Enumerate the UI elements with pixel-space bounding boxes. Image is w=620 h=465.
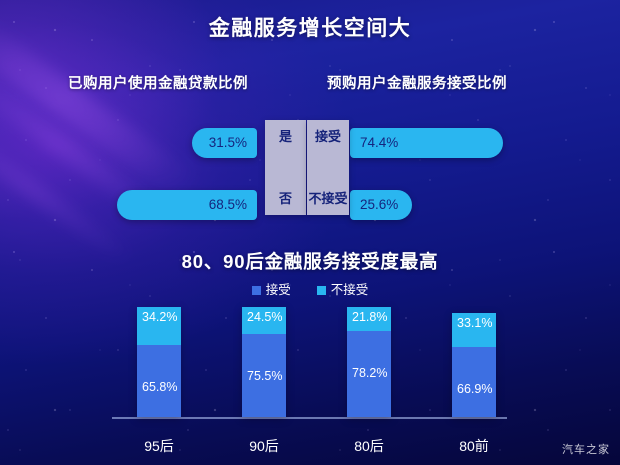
bar-right-reject: 25.6% — [350, 190, 412, 220]
legend-label: 接受 — [266, 284, 291, 297]
legend-label: 不接受 — [331, 284, 369, 297]
segment-value: 21.8% — [352, 311, 387, 325]
segment-value: 65.8% — [142, 381, 177, 395]
bar-value: 31.5% — [209, 136, 247, 150]
legend-swatch-icon — [252, 286, 261, 295]
segment-value: 75.5% — [247, 370, 282, 384]
segment-accept: 75.5% — [242, 334, 286, 417]
segment-accept: 65.8% — [137, 345, 181, 417]
x-axis-label: 90后 — [219, 439, 309, 453]
category-label-reject: 不接受 — [307, 192, 349, 205]
subtitle-row: 已购用户使用金融贷款比例 预购用户金融服务接受比例 — [0, 72, 620, 92]
main-title: 金融服务增长空间大 — [0, 12, 620, 42]
x-axis-label: 80前 — [429, 439, 519, 453]
segment-value: 24.5% — [247, 311, 282, 325]
category-label-no: 否 — [265, 192, 306, 205]
stacked-column: 24.5%75.5% — [242, 307, 286, 417]
stacked-column: 21.8%78.2% — [347, 307, 391, 417]
bar-right-accept: 74.4% — [350, 128, 503, 158]
x-axis-line — [112, 417, 507, 419]
x-axis-label: 95后 — [114, 439, 204, 453]
segment-reject: 24.5% — [242, 307, 286, 334]
segment-reject: 33.1% — [452, 313, 496, 347]
segment-reject: 34.2% — [137, 307, 181, 345]
left-chart-subtitle: 已购用户使用金融贷款比例 — [68, 72, 248, 93]
segment-value: 34.2% — [142, 311, 177, 325]
category-column-right: 接受 不接受 — [307, 120, 349, 215]
segment-reject: 21.8% — [347, 307, 391, 331]
watermark: 汽车之家 — [562, 441, 610, 457]
segment-accept: 66.9% — [452, 347, 496, 417]
bar-value: 68.5% — [209, 198, 247, 212]
stacked-column: 34.2%65.8% — [137, 307, 181, 417]
infographic-slide: 金融服务增长空间大 已购用户使用金融贷款比例 预购用户金融服务接受比例 31.5… — [0, 0, 620, 465]
legend-item-reject[interactable]: 不接受 — [317, 284, 369, 297]
tornado-bar-chart: 31.5% 74.4% 68.5% 25.6% 是 否 接受 不接受 — [0, 120, 620, 228]
category-label-accept: 接受 — [307, 130, 349, 143]
right-chart-subtitle: 预购用户金融服务接受比例 — [327, 72, 507, 93]
stacked-column-chart: 34.2%65.8%95后24.5%75.5%90后21.8%78.2%80后3… — [0, 300, 620, 465]
segment-value: 66.9% — [457, 383, 492, 397]
chart-legend: 接受不接受 — [0, 284, 620, 297]
segment-value: 78.2% — [352, 367, 387, 381]
legend-item-accept[interactable]: 接受 — [252, 284, 291, 297]
bar-left-no: 68.5% — [117, 190, 257, 220]
segment-accept: 78.2% — [347, 331, 391, 417]
bar-left-yes: 31.5% — [192, 128, 257, 158]
legend-swatch-icon — [317, 286, 326, 295]
segment-value: 33.1% — [457, 317, 492, 331]
category-label-yes: 是 — [265, 130, 306, 143]
x-axis-label: 80后 — [324, 439, 414, 453]
stacked-column: 33.1%66.9% — [452, 313, 496, 417]
second-section-title: 80、90后金融服务接受度最高 — [0, 248, 620, 274]
bar-value: 74.4% — [360, 136, 398, 150]
category-column-left: 是 否 — [265, 120, 306, 215]
bar-value: 25.6% — [360, 198, 398, 212]
